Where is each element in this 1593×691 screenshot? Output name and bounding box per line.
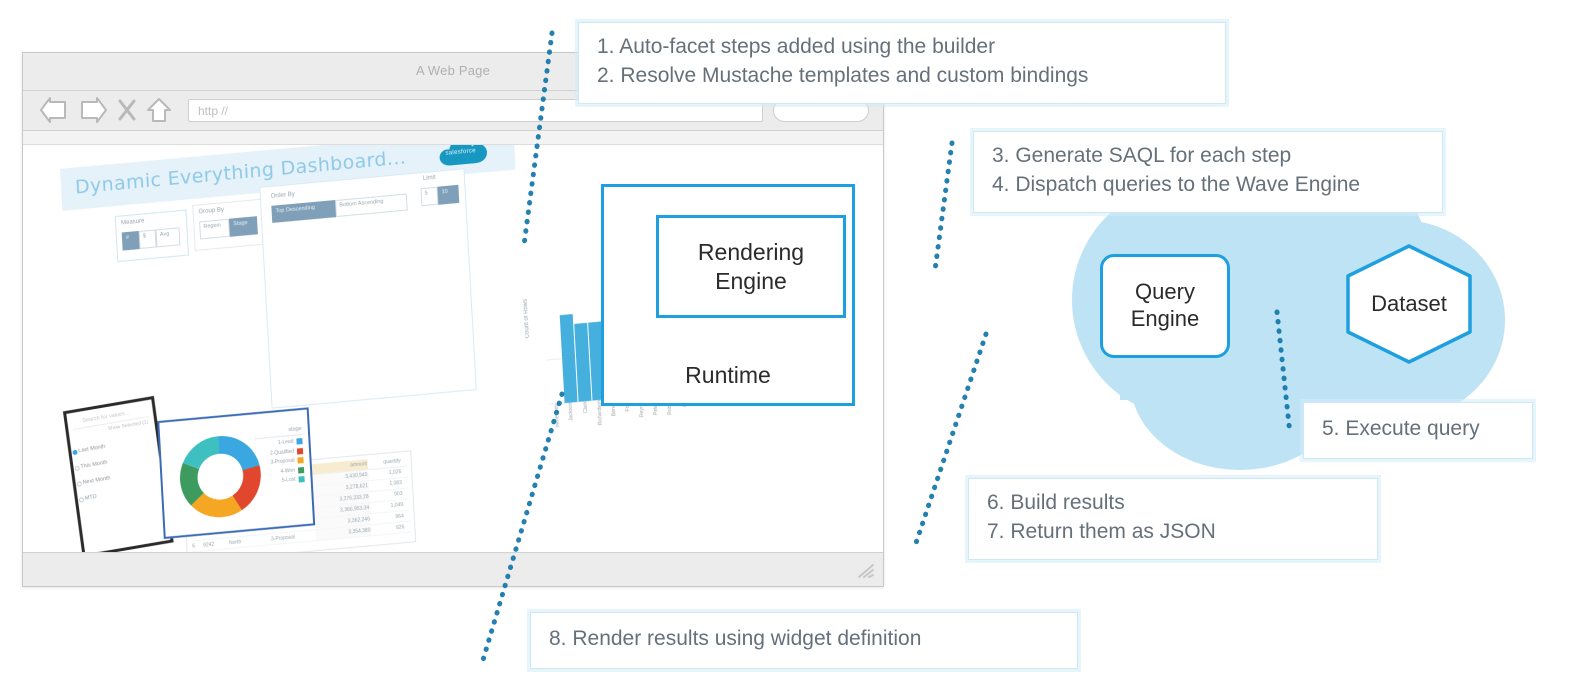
runtime-box: Rendering Engine Runtime — [601, 184, 855, 406]
filter-item-1[interactable]: This Month — [80, 460, 108, 471]
home-icon[interactable] — [146, 97, 172, 123]
donut-legend-label: 4-Won — [280, 467, 295, 474]
groupby-label: Group By — [198, 207, 224, 215]
donut-legend-swatch — [298, 467, 304, 474]
donut-legend-swatch — [297, 457, 303, 464]
groupby-option-1[interactable]: Stage — [229, 216, 258, 237]
callout-5: 5. Execute query — [1303, 402, 1533, 459]
orderby-option-1[interactable]: Bottom Ascending — [335, 194, 408, 218]
measure-option-2[interactable]: Avg — [156, 227, 181, 247]
limit-label: Limit — [423, 175, 436, 182]
bar-xtick-1: Jackson — [565, 402, 580, 447]
donut-legend-item-1[interactable]: 2-Qualified — [255, 448, 303, 458]
dashboard-mockup: Dynamic Everything Dashboard... salesfor… — [23, 145, 555, 552]
dataset-hexagon — [1344, 243, 1474, 365]
filter-search-placeholder: Search for values... — [82, 410, 130, 424]
orderby-option-0[interactable]: Top Descending — [271, 200, 336, 223]
bar-xtick-2: Clark — [579, 401, 594, 446]
orderby-label: Order By — [271, 192, 295, 200]
donut-legend-swatch — [296, 438, 302, 445]
donut-legend-swatch — [298, 476, 304, 483]
table-cell: 6 — [191, 541, 203, 552]
bar-xtick-3: Richardson — [593, 399, 608, 444]
rendering-engine-label: Rendering Engine — [698, 238, 804, 294]
query-engine-box: Query Engine — [1100, 254, 1230, 358]
measure-option-0[interactable]: # — [122, 231, 140, 251]
table-cell: 926 — [371, 522, 405, 535]
stop-x-icon[interactable] — [117, 97, 137, 123]
filter-item-0[interactable]: Last Month — [78, 444, 106, 455]
donut-legend-label: 3-Proposal — [270, 458, 294, 466]
groupby-control-panel[interactable]: Group By Region Stage — [192, 199, 264, 251]
table-cell: 9242 — [202, 538, 228, 550]
filter-item-2[interactable]: Next Month — [82, 475, 111, 486]
browser-bookmark-bar — [23, 131, 883, 145]
query-engine-label: Query Engine — [1131, 279, 1200, 333]
forward-arrow-icon[interactable] — [78, 97, 108, 123]
chart-widget-panel: Order By Top Descending Bottom Ascending… — [259, 168, 477, 408]
donut-legend-label: 5-Lost — [282, 477, 296, 484]
limit-option-0[interactable]: 5 — [420, 187, 438, 207]
leader-callout-5 — [1277, 312, 1290, 434]
filter-widget[interactable]: Search for values... Show Selected (1) L… — [63, 396, 174, 552]
groupby-option-0[interactable]: Region — [199, 219, 230, 240]
donut-legend-item-4[interactable]: 5-Lost — [257, 476, 305, 486]
donut-legend-item-0[interactable]: 1-Lead — [255, 438, 303, 448]
filter-item-3[interactable]: MTD — [84, 494, 97, 502]
measure-label: Measure — [121, 218, 145, 226]
donut-legend: stage 1-Lead2-Qualified3-Proposal4-Won5-… — [254, 426, 305, 490]
leader-callout-3-4 — [935, 143, 952, 270]
rendering-engine-box: Rendering Engine — [656, 215, 846, 318]
window-resize-grip[interactable] — [857, 563, 875, 579]
donut-legend-label: 2-Qualified — [270, 448, 294, 456]
donut-chart — [174, 428, 267, 526]
donut-legend-item-3[interactable]: 4-Won — [256, 467, 304, 477]
callout-8: 8. Render results using widget definitio… — [530, 612, 1078, 669]
limit-option-1[interactable]: 10 — [437, 185, 459, 205]
browser-nav-icons — [39, 97, 172, 123]
bar-chart-ylabel: Count of Rows — [523, 299, 531, 339]
bar-xtick-0: owner_rep — [551, 403, 566, 448]
back-arrow-icon[interactable] — [39, 97, 69, 123]
measure-option-1[interactable]: $ — [139, 229, 157, 249]
callout-6-7: 6. Build results 7. Return them as JSON — [968, 478, 1378, 560]
donut-legend-swatch — [297, 448, 303, 455]
diagram-canvas: A Web Page http // — [0, 0, 1593, 691]
callout-1-2: 1. Auto-facet steps added using the buil… — [578, 22, 1226, 104]
donut-legend-item-2[interactable]: 3-Proposal — [256, 457, 304, 467]
browser-statusbar — [23, 552, 883, 586]
measure-control-panel[interactable]: Measure # $ Avg — [115, 210, 189, 262]
donut-chart-widget: stage 1-Lead2-Qualified3-Proposal4-Won5-… — [157, 407, 315, 539]
url-placeholder-text: http // — [198, 104, 228, 118]
callout-3-4: 3. Generate SAQL for each step 4. Dispat… — [973, 131, 1443, 213]
runtime-label: Runtime — [604, 362, 852, 389]
donut-legend-label: 1-Lead — [278, 439, 294, 446]
